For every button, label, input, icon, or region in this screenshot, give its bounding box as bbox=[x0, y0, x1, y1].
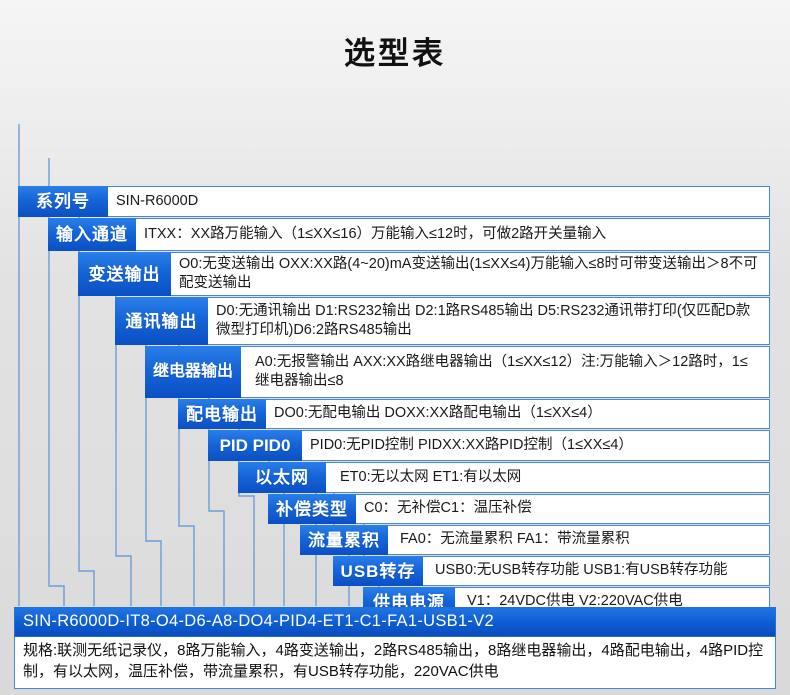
table-row: 系列号 SIN-R6000D bbox=[18, 186, 770, 217]
row-value-communication-output: D0:无通讯输出 D1:RS232输出 D2:1路RS485输出 D5:RS23… bbox=[208, 297, 770, 345]
row-value-ethernet: ET0:无以太网 ET1:有以太网 bbox=[326, 462, 770, 493]
model-code: SIN-R6000D-IT8-O4-D6-A8-DO4-PID4-ET1-C1-… bbox=[14, 607, 776, 637]
row-label-transmitter-output[interactable]: 变送输出 bbox=[78, 252, 171, 296]
table-row: 流量累积 FA0：无流量累积 FA1：带流量累积 bbox=[300, 525, 770, 555]
table-row: 通讯输出 D0:无通讯输出 D1:RS232输出 D2:1路RS485输出 D5… bbox=[115, 297, 770, 345]
row-label-communication-output[interactable]: 通讯输出 bbox=[115, 297, 208, 345]
table-row: 补偿类型 C0：无补偿C1：温压补偿 bbox=[268, 494, 770, 524]
table-row: PID PID0 PID0:无PID控制 PIDXX:XX路PID控制（1≤XX… bbox=[208, 430, 770, 461]
row-label-power-distribution-output[interactable]: 配电输出 bbox=[178, 399, 266, 429]
row-label-relay-output[interactable]: 继电器输出 bbox=[145, 346, 241, 398]
table-row: USB转存 USB0:无USB转存功能 USB1:有USB转存功能 bbox=[333, 556, 770, 586]
table-row: 配电输出 DO0:无配电输出 DOXX:XX路配电输出（1≤XX≤4） bbox=[178, 399, 770, 429]
row-label-input-channel[interactable]: 输入通道 bbox=[48, 218, 136, 251]
selection-table: 系列号 SIN-R6000D 输入通道 ITXX：XX路万能输入（1≤XX≤16… bbox=[0, 93, 790, 523]
row-value-compensation-type: C0：无补偿C1：温压补偿 bbox=[356, 494, 770, 524]
row-value-relay-output: A0:无报警输出 AXX:XX路继电器输出（1≤XX≤12）注:万能输入＞12路… bbox=[241, 346, 770, 398]
table-row: 以太网 ET0:无以太网 ET1:有以太网 bbox=[238, 462, 770, 493]
row-label-ethernet[interactable]: 以太网 bbox=[238, 462, 326, 493]
row-value-transmitter-output: O0:无变送输出 OXX:XX路(4~20)mA变送输出(1≤XX≤4)万能输入… bbox=[171, 252, 770, 296]
model-description: 规格:联测无纸记录仪，8路万能输入，4路变送输出，2路RS485输出，8路继电器… bbox=[14, 637, 776, 689]
row-value-flow-totalizer: FA0：无流量累积 FA1：带流量累积 bbox=[388, 525, 770, 555]
row-value-power-distribution-output: DO0:无配电输出 DOXX:XX路配电输出（1≤XX≤4） bbox=[266, 399, 770, 429]
row-label-pid[interactable]: PID PID0 bbox=[208, 430, 302, 461]
page-title: 选型表 bbox=[0, 0, 790, 93]
table-row: 继电器输出 A0:无报警输出 AXX:XX路继电器输出（1≤XX≤12）注:万能… bbox=[145, 346, 770, 398]
row-value-usb-transfer: USB0:无USB转存功能 USB1:有USB转存功能 bbox=[423, 556, 770, 586]
row-value-input-channel: ITXX：XX路万能输入（1≤XX≤16）万能输入≤12时，可做2路开关量输入 bbox=[136, 218, 770, 251]
table-row: 输入通道 ITXX：XX路万能输入（1≤XX≤16）万能输入≤12时，可做2路开… bbox=[48, 218, 770, 251]
row-value-series-number: SIN-R6000D bbox=[108, 186, 770, 217]
row-label-series-number[interactable]: 系列号 bbox=[18, 186, 108, 217]
row-label-compensation-type[interactable]: 补偿类型 bbox=[268, 494, 356, 524]
row-label-flow-totalizer[interactable]: 流量累积 bbox=[300, 525, 388, 555]
row-label-usb-transfer[interactable]: USB转存 bbox=[333, 556, 423, 586]
row-value-pid: PID0:无PID控制 PIDXX:XX路PID控制（1≤XX≤4） bbox=[302, 430, 770, 461]
table-row: 变送输出 O0:无变送输出 OXX:XX路(4~20)mA变送输出(1≤XX≤4… bbox=[78, 252, 770, 296]
footer-summary: SIN-R6000D-IT8-O4-D6-A8-DO4-PID4-ET1-C1-… bbox=[14, 607, 776, 689]
